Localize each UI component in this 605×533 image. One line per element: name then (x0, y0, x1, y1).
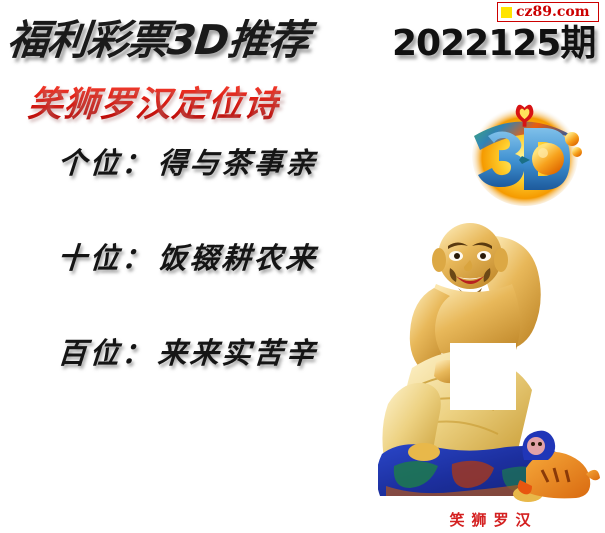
lottery-3d-logo-icon (466, 98, 584, 210)
lottery-3d-logo (466, 98, 584, 210)
watermark-square-icon (501, 7, 512, 18)
statue-caption: 笑狮罗汉 (420, 509, 560, 530)
poem-verse-ones: 得与茶事亲 (157, 140, 320, 182)
poem-verse-tens: 饭辍耕农来 (157, 235, 320, 277)
poem-position-ones: 个位： (57, 140, 156, 182)
poem-position-hundreds: 百位： (57, 330, 156, 372)
poem-line-hundreds: 百位： 来来实苦辛 (58, 330, 388, 425)
watermark-label: cz89.com (516, 5, 590, 19)
white-overlay-box (450, 343, 516, 410)
poem-position-tens: 十位： (57, 235, 156, 277)
poem-line-tens: 十位： 饭辍耕农来 (58, 235, 388, 330)
lottery-poster: cz89.com 福利彩票3D推荐 2022125期 笑狮罗汉定位诗 笑狮罗汉定… (0, 0, 605, 533)
site-watermark: cz89.com (497, 2, 599, 22)
lion-figure (518, 431, 600, 499)
poem-verse-hundreds: 来来实苦辛 (157, 330, 320, 372)
page-title: 福利彩票3D推荐 (5, 6, 312, 66)
poem-line-ones: 个位： 得与茶事亲 (58, 140, 388, 235)
subtitle: 笑狮罗汉定位诗 (26, 76, 282, 127)
poem-block: 个位： 得与茶事亲 十位： 饭辍耕农来 百位： 来来实苦辛 (58, 140, 388, 425)
